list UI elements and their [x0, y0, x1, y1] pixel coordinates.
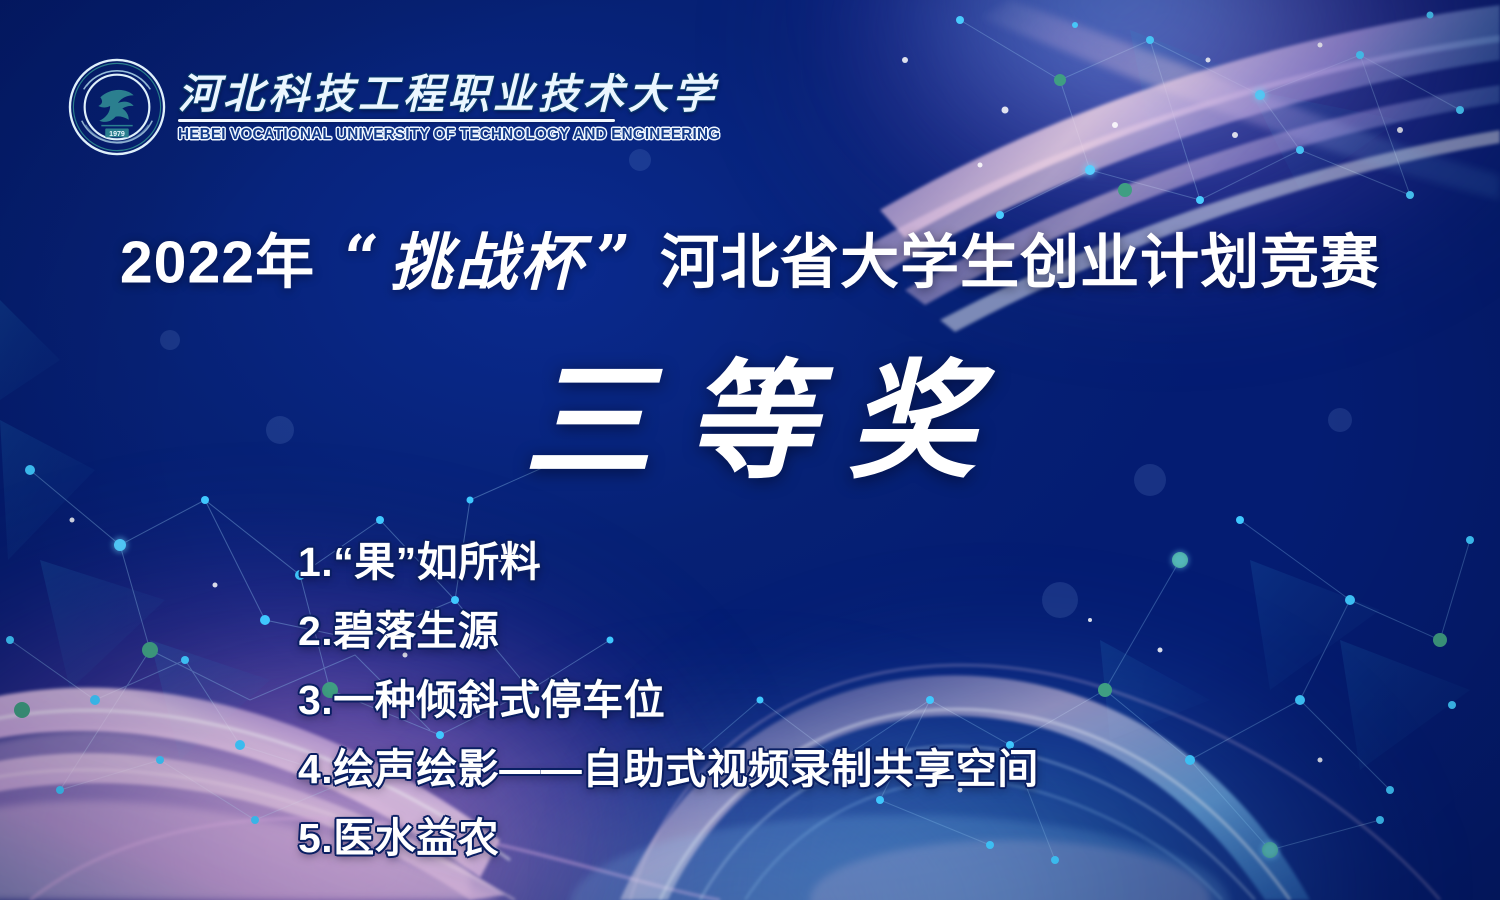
university-name-cn: 河北科技工程职业技术大学 [178, 74, 729, 116]
list-item-label: 碧落生源 [333, 611, 499, 652]
university-crest-emblem-icon: 1979 [68, 58, 166, 156]
title-quote-open: “ [344, 221, 380, 294]
award-slide: 1979 河北科技工程职业技术大学 HEBEI VOCATIONAL UNIVE… [0, 0, 1500, 900]
page-title: 2022年 “ 挑战杯 ” 河北省大学生创业计划竞赛 [0, 212, 1500, 302]
university-logo-block: 1979 河北科技工程职业技术大学 HEBEI VOCATIONAL UNIVE… [68, 58, 729, 156]
list-item-number: 2. [298, 611, 333, 652]
list-item-number: 3. [298, 680, 333, 721]
list-item-label: 绘声绘影——自助式视频录制共享空间 [333, 749, 1039, 790]
title-year: 2022年 [120, 230, 315, 296]
award-list: 1. “果”如所料 2. 碧落生源 3. 一种倾斜式停车位 4. 绘声绘影——自… [298, 528, 1039, 873]
university-name-en: HEBEI VOCATIONAL UNIVERSITY OF TECHNOLOG… [178, 126, 720, 144]
list-item-label: 医水益农 [333, 818, 499, 859]
list-item: 5. 医水益农 [298, 804, 1039, 873]
list-item: 1. “果”如所料 [298, 528, 1039, 597]
crest-founded-year: 1979 [109, 131, 125, 138]
list-item-number: 4. [298, 749, 333, 790]
list-item: 2. 碧落生源 [298, 597, 1039, 666]
list-item-label: “果”如所料 [333, 542, 541, 583]
university-name-block: 河北科技工程职业技术大学 HEBEI VOCATIONAL UNIVERSITY… [178, 70, 729, 144]
list-item-label: 一种倾斜式停车位 [333, 680, 665, 721]
list-item-number: 5. [298, 818, 333, 859]
title-competition: 挑战杯 [390, 226, 585, 299]
list-item: 4. 绘声绘影——自助式视频录制共享空间 [298, 735, 1039, 804]
logo-divider-rule [178, 119, 615, 122]
list-item: 3. 一种倾斜式停车位 [298, 666, 1039, 735]
title-quote-close: ” [596, 221, 632, 294]
title-rest: 河北省大学生创业计划竞赛 [660, 230, 1380, 296]
list-item-number: 1. [298, 542, 333, 583]
prize-heading: 三等奖 [0, 358, 1500, 486]
